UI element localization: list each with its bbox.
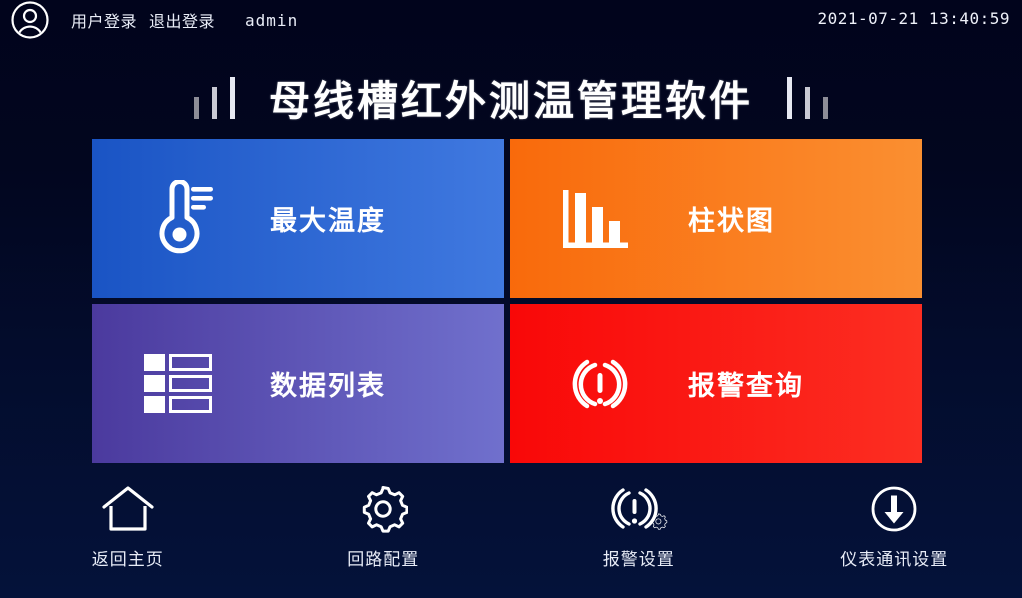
gear-icon	[358, 484, 408, 534]
toolbar-item-home[interactable]: 返回主页	[0, 473, 256, 598]
header-links: 用户登录 退出登录 admin	[65, 8, 298, 32]
user-login-link[interactable]: 用户登录	[65, 8, 143, 32]
bottom-toolbar: 返回主页 回路配置	[0, 473, 1022, 598]
tile-alarm-query[interactable]: 报警查询	[510, 304, 922, 463]
toolbar-item-meter-comm-settings[interactable]: 仪表通讯设置	[767, 473, 1022, 598]
user-avatar-icon[interactable]	[9, 0, 51, 41]
home-icon	[100, 485, 156, 533]
tile-label: 报警查询	[688, 364, 804, 403]
title-decoration-right-icon	[787, 75, 828, 119]
tile-bar-chart[interactable]: 柱状图	[510, 139, 922, 298]
alarm-icon	[562, 352, 638, 416]
toolbar-label: 返回主页	[92, 545, 164, 570]
toolbar-label: 仪表通讯设置	[840, 545, 948, 570]
tile-label: 最大温度	[270, 199, 386, 238]
thermometer-icon	[144, 180, 214, 258]
tile-label: 柱状图	[688, 199, 775, 238]
top-header-bar: 用户登录 退出登录 admin 2021-07-21 13:40:59	[0, 0, 1022, 40]
tile-max-temperature[interactable]: 最大温度	[92, 139, 504, 298]
toolbar-label: 报警设置	[603, 545, 675, 570]
toolbar-label: 回路配置	[347, 545, 419, 570]
title-row: 母线槽红外测温管理软件	[0, 62, 1022, 132]
home-icon-wrap	[100, 483, 156, 535]
alarm-settings-icon	[608, 483, 670, 535]
user-logout-link[interactable]: 退出登录	[143, 8, 221, 32]
download-circle-icon-wrap	[870, 483, 918, 535]
download-circle-icon	[870, 485, 918, 533]
tile-data-list[interactable]: 数据列表	[92, 304, 504, 463]
tile-label: 数据列表	[270, 364, 386, 403]
datetime-display: 2021-07-21 13:40:59	[817, 9, 1010, 28]
current-user-label: admin	[245, 11, 298, 30]
main-tile-grid: 最大温度 柱状图 数据列表	[92, 139, 922, 463]
title-decoration-left-icon	[194, 75, 235, 119]
bar-chart-icon	[562, 189, 632, 249]
list-table-icon	[144, 354, 212, 414]
toolbar-item-loop-config[interactable]: 回路配置	[256, 473, 512, 598]
app-window: 用户登录 退出登录 admin 2021-07-21 13:40:59 母线槽红…	[0, 0, 1022, 598]
alarm-settings-icon-wrap	[608, 483, 670, 535]
toolbar-item-alarm-settings[interactable]: 报警设置	[511, 473, 767, 598]
page-title: 母线槽红外测温管理软件	[235, 67, 787, 127]
gear-icon-wrap	[358, 483, 408, 535]
